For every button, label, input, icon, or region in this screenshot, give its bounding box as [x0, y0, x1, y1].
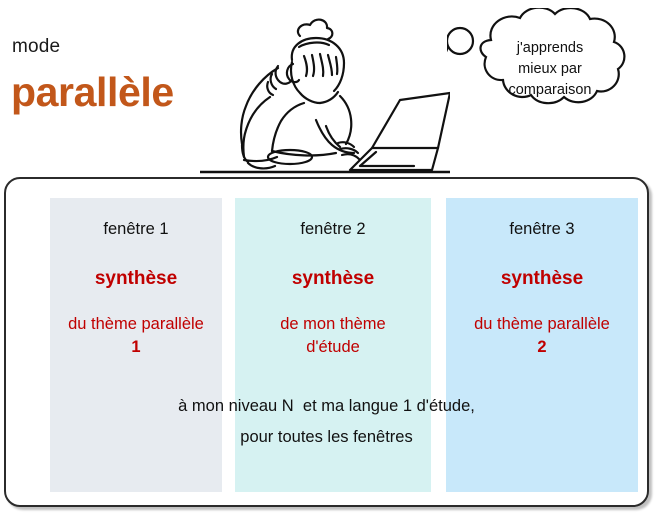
window-column-2[interactable]: fenêtre 2 synthèse de mon thème d'étude	[235, 198, 431, 492]
windows-columns: fenêtre 1 synthèse du thème parallèle 1 …	[6, 179, 647, 505]
window-synthese-label-3: synthèse	[446, 268, 638, 290]
mode-title: parallèle	[11, 72, 174, 113]
window-synthese-label-1: synthèse	[50, 268, 222, 290]
window-desc-line2-2: d'étude	[306, 338, 360, 356]
thought-line-1: j'apprends	[475, 38, 625, 59]
window-column-1[interactable]: fenêtre 1 synthèse du thème parallèle 1	[50, 198, 222, 492]
window-desc-line1-2: de mon thème	[280, 315, 385, 333]
parallel-mode-panel: fenêtre 1 synthèse du thème parallèle 1 …	[4, 177, 649, 507]
window-synthese-label-2: synthèse	[235, 268, 431, 290]
thought-bubble: j'apprends mieux par comparaison	[447, 8, 652, 143]
window-desc-line1-1: du thème parallèle	[68, 315, 204, 333]
mode-label: mode	[12, 36, 60, 58]
person-at-laptop-illustration	[200, 0, 450, 180]
window-desc-line1-3: du thème parallèle	[474, 315, 610, 333]
window-title-3: fenêtre 3	[446, 220, 638, 239]
thought-bubble-text: j'apprends mieux par comparaison	[475, 38, 625, 101]
thought-line-3: comparaison	[475, 80, 625, 101]
window-description-2: de mon thème d'étude	[235, 313, 431, 360]
window-desc-line2-1: 1	[131, 338, 140, 356]
window-description-1: du thème parallèle 1	[50, 313, 222, 360]
header-zone: mode parallèle	[0, 0, 657, 178]
thought-line-2: mieux par	[475, 59, 625, 80]
window-title-2: fenêtre 2	[235, 220, 431, 239]
window-title-1: fenêtre 1	[50, 220, 222, 239]
window-desc-line2-3: 2	[537, 338, 546, 356]
window-description-3: du thème parallèle 2	[446, 313, 638, 360]
window-column-3[interactable]: fenêtre 3 synthèse du thème parallèle 2	[446, 198, 638, 492]
